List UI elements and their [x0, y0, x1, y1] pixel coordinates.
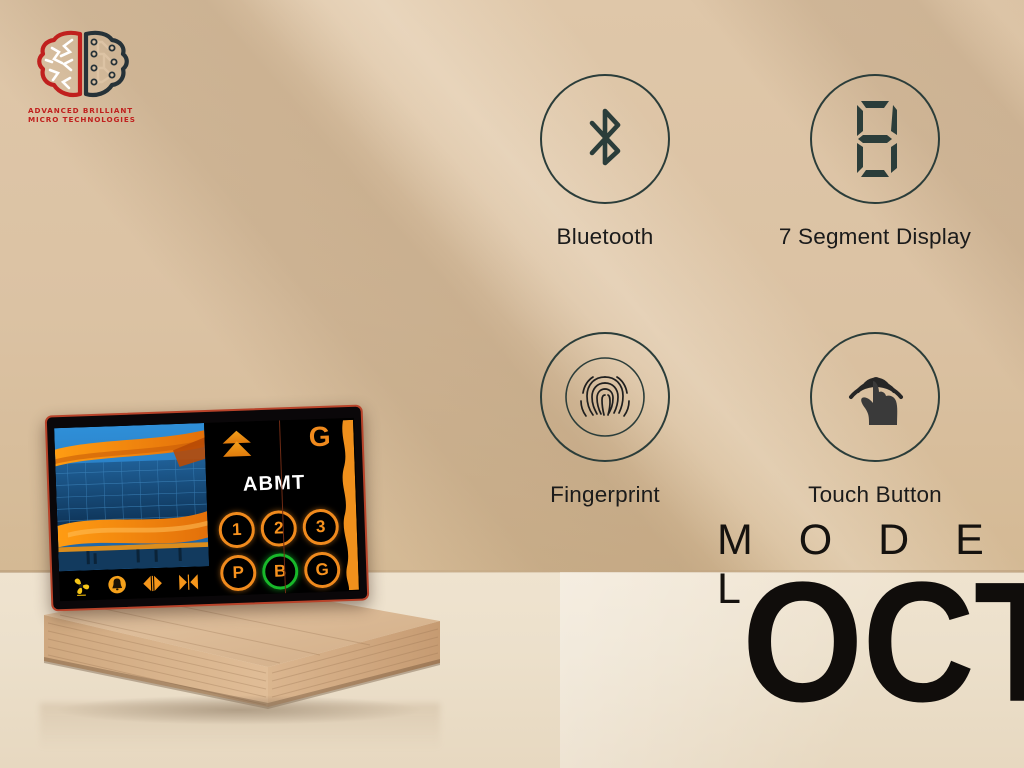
keypad[interactable]: 1 2 3 P B G: [215, 508, 344, 591]
feature-icon-frame: [540, 74, 670, 204]
building-photo: [54, 423, 209, 571]
panel-title: ABMT: [206, 470, 343, 498]
seven-segment-display-icon: [847, 97, 903, 181]
feature-seven-segment-display[interactable]: 7 Segment Display: [740, 74, 1010, 250]
feature-row-2: Fingerprint Touch Button: [470, 332, 1010, 508]
device-screen[interactable]: G ABMT 1 2 3 P B G: [54, 418, 360, 601]
floor-indicator: G: [308, 421, 331, 454]
feature-label: 7 Segment Display: [779, 224, 971, 250]
feature-bluetooth[interactable]: Bluetooth: [470, 74, 740, 250]
feature-icon-frame: [810, 332, 940, 462]
bell-icon[interactable]: [105, 573, 128, 596]
feature-label: Fingerprint: [550, 482, 660, 508]
keypad-key-p[interactable]: P: [220, 554, 257, 591]
feature-fingerprint[interactable]: Fingerprint: [470, 332, 740, 508]
octa-device[interactable]: G ABMT 1 2 3 P B G: [45, 405, 370, 612]
double-up-arrow-icon: [218, 429, 255, 460]
bluetooth-icon: [574, 101, 636, 177]
modern-glass-building-photo: [54, 423, 209, 571]
split-brain-logo-icon: [28, 28, 138, 102]
door-close-icon[interactable]: [177, 570, 200, 593]
feature-grid: Bluetooth: [470, 74, 1010, 508]
brand-logo: ADVANCED BRILLIANT MICRO TECHNOLOGIES: [28, 28, 150, 136]
feature-row-spacer: [470, 250, 1010, 332]
feature-icon-frame: [810, 74, 940, 204]
poster-canvas: ADVANCED BRILLIANT MICRO TECHNOLOGIES Bl…: [0, 0, 1024, 768]
keypad-key-3[interactable]: 3: [302, 508, 339, 545]
screen-left-pane: [54, 423, 210, 601]
pedestal-reflection: [40, 703, 440, 749]
brand-line-2: MICRO TECHNOLOGIES: [28, 115, 150, 124]
feature-label: Bluetooth: [557, 224, 654, 250]
feature-label: Touch Button: [808, 482, 942, 508]
touch-button-icon: [829, 351, 921, 443]
model-name: OCTA: [742, 556, 1024, 727]
device-bezel: G ABMT 1 2 3 P B G: [45, 405, 370, 612]
screen-toolbar[interactable]: [59, 566, 210, 601]
brand-line-1: ADVANCED BRILLIANT: [28, 106, 150, 115]
feature-row-1: Bluetooth: [470, 74, 1010, 250]
feature-touch-button[interactable]: Touch Button: [740, 332, 1010, 508]
fingerprint-icon: [557, 349, 653, 445]
door-open-icon[interactable]: [141, 572, 164, 595]
keypad-key-b[interactable]: B: [262, 553, 299, 590]
keypad-key-g[interactable]: G: [304, 551, 341, 588]
keypad-key-2[interactable]: 2: [260, 510, 297, 547]
keypad-key-1[interactable]: 1: [218, 511, 255, 548]
feature-icon-frame: [540, 332, 670, 462]
fan-icon[interactable]: [69, 574, 92, 597]
screen-right-panel: G ABMT 1 2 3 P B G: [204, 418, 360, 596]
